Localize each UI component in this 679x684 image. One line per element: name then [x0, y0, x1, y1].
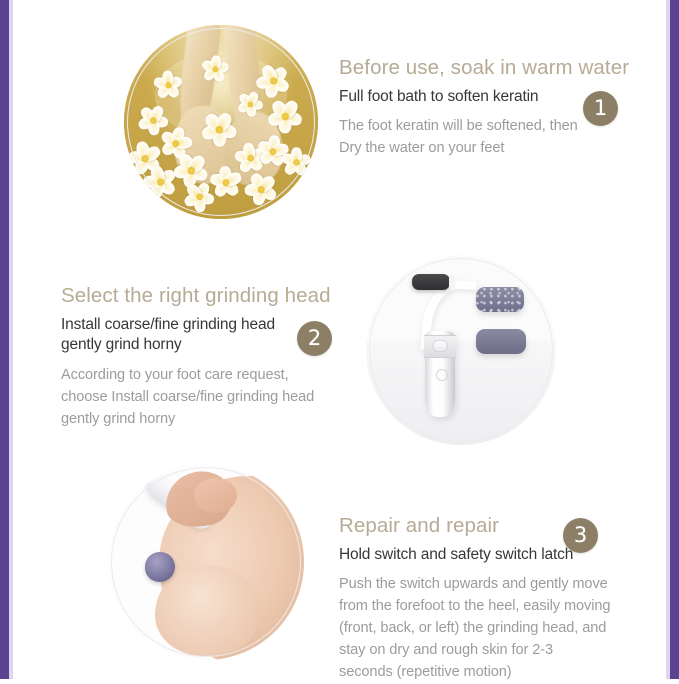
heel-area [155, 566, 257, 656]
step-1-photo [118, 19, 324, 225]
step-3-photo [102, 458, 310, 666]
hand-knuckles [194, 478, 237, 513]
step-1-section: Before use, soak in warm water Full foot… [0, 0, 679, 246]
step-2-body-line: gently grind horny [61, 409, 316, 431]
device-grinding-heel-photo [108, 464, 304, 660]
frangipani-flower [198, 52, 231, 85]
step-1-text: Before use, soak in warm water Full foot… [339, 57, 614, 160]
step-3-body-line: seconds (repetitive motion) [339, 662, 624, 684]
step-3-body-line: Push the switch upwards and gently move [339, 574, 624, 596]
step-1-number-badge: 1 [583, 91, 618, 126]
step-2-subheading-line: gently grind horny [61, 335, 316, 356]
foot-bath-with-frangipani-flowers-photo [124, 25, 318, 219]
step-2-subheading-line: Install coarse/fine grinding head [61, 315, 316, 336]
step-2-text: Select the right grinding head Install c… [61, 285, 316, 430]
step-1-body-line: Dry the water on your feet [339, 138, 614, 160]
step-1-subheading: Full foot bath to soften keratin [339, 87, 614, 108]
step-2-body-line: choose Install coarse/fine grinding head [61, 387, 316, 409]
step-3-section: Repair and repair Hold switch and safety… [0, 458, 679, 679]
frangipani-flower [234, 89, 265, 120]
step-2-body-line: According to your foot care request, [61, 365, 316, 387]
coarse-grinding-head [476, 287, 524, 312]
step-1-number: 1 [594, 96, 607, 120]
device-switch [424, 335, 456, 358]
step-2-body: According to your foot care request, cho… [61, 365, 316, 431]
step-3-body: Push the switch upwards and gently move … [339, 574, 624, 683]
step-3-number: 3 [574, 523, 587, 547]
step-1-heading: Before use, soak in warm water [339, 57, 614, 80]
step-2-heading: Select the right grinding head [61, 285, 316, 308]
step-2-number: 2 [308, 326, 321, 350]
step-3-body-line: stay on dry and rough skin for 2-3 [339, 640, 624, 662]
grinding-head-tip [145, 552, 174, 581]
electric-foot-file-with-grinding-heads-photo [366, 255, 556, 445]
step-2-subheading: Install coarse/fine grinding head gently… [61, 315, 316, 356]
instruction-page: Before use, soak in warm water Full foot… [0, 0, 679, 679]
step-2-section: Select the right grinding head Install c… [0, 246, 679, 458]
switch-button [433, 340, 448, 352]
step-1-body: The foot keratin will be softened, then … [339, 116, 614, 160]
step-1-body-line: The foot keratin will be softened, then [339, 116, 614, 138]
step-3-body-line: (front, back, or left) the grinding head… [339, 618, 624, 640]
fine-grinding-head [476, 329, 525, 354]
installed-grinding-roller [412, 274, 450, 290]
product-backdrop [366, 341, 556, 446]
step-3-body-line: from the forefoot to the heel, easily mo… [339, 596, 624, 618]
step-3-number-badge: 3 [563, 518, 598, 553]
step-2-number-badge: 2 [297, 321, 332, 356]
step-2-photo [360, 249, 562, 451]
